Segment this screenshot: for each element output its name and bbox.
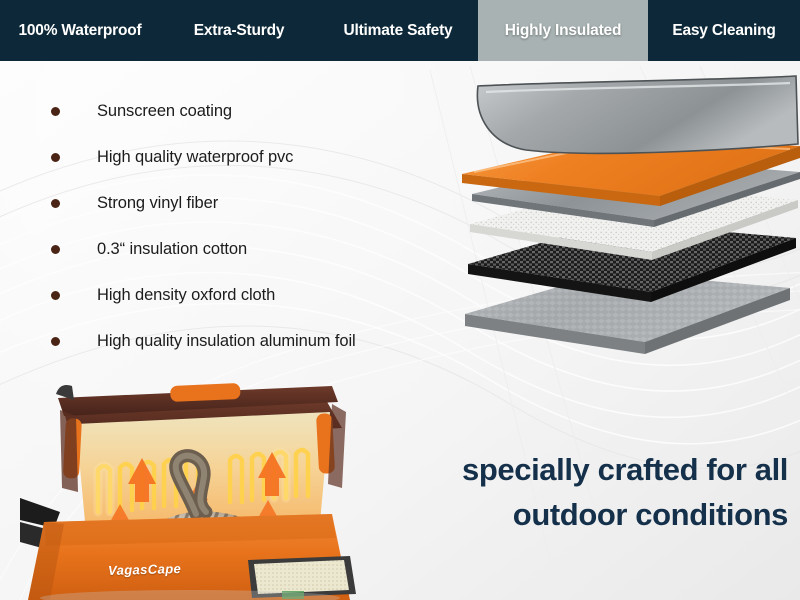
infographic-page: 100% Waterproof Extra-Sturdy Ultimate Sa… [0,0,800,600]
tagline: specially crafted for all outdoor condit… [358,448,788,538]
tab-ultimate-safety[interactable]: Ultimate Safety [318,0,478,61]
tab-label: Highly Insulated [505,22,622,40]
list-item-label: High quality waterproof pvc [97,148,293,167]
tab-extra-sturdy[interactable]: Extra-Sturdy [160,0,318,61]
tab-label: Easy Cleaning [672,22,775,40]
list-item: Strong vinyl fiber [40,180,460,226]
bullet-dot-icon [51,199,60,208]
bullet-dot-icon [51,337,60,346]
heated-pet-carrier-image [20,372,370,600]
bullet-dot-icon [51,245,60,254]
tab-label: 100% Waterproof [18,22,141,40]
tab-100-waterproof[interactable]: 100% Waterproof [0,0,160,61]
material-feature-list: Sunscreen coating High quality waterproo… [40,88,460,364]
list-item-label: Sunscreen coating [97,102,232,121]
tagline-line-1: specially crafted for all [358,448,788,493]
list-item-label: 0.3“ insulation cotton [97,240,247,259]
tagline-line-2: outdoor conditions [358,493,788,538]
exploded-material-layers-diagram [430,66,800,366]
list-item-label: High quality insulation aluminum foil [97,332,356,351]
list-item-label: High density oxford cloth [97,286,275,305]
tab-label: Ultimate Safety [344,22,453,40]
tab-label: Extra-Sturdy [194,22,285,40]
list-item: High density oxford cloth [40,272,460,318]
feature-tab-bar: 100% Waterproof Extra-Sturdy Ultimate Sa… [0,0,800,61]
bullet-dot-icon [51,107,60,116]
list-item: 0.3“ insulation cotton [40,226,460,272]
list-item: High quality insulation aluminum foil [40,318,460,364]
sunscreen-coating-layer [477,76,798,153]
list-item: Sunscreen coating [40,88,460,134]
list-item: High quality waterproof pvc [40,134,460,180]
tab-highly-insulated[interactable]: Highly Insulated [478,0,648,61]
bullet-dot-icon [51,291,60,300]
bullet-dot-icon [51,153,60,162]
tab-easy-cleaning[interactable]: Easy Cleaning [648,0,800,61]
list-item-label: Strong vinyl fiber [97,194,218,213]
